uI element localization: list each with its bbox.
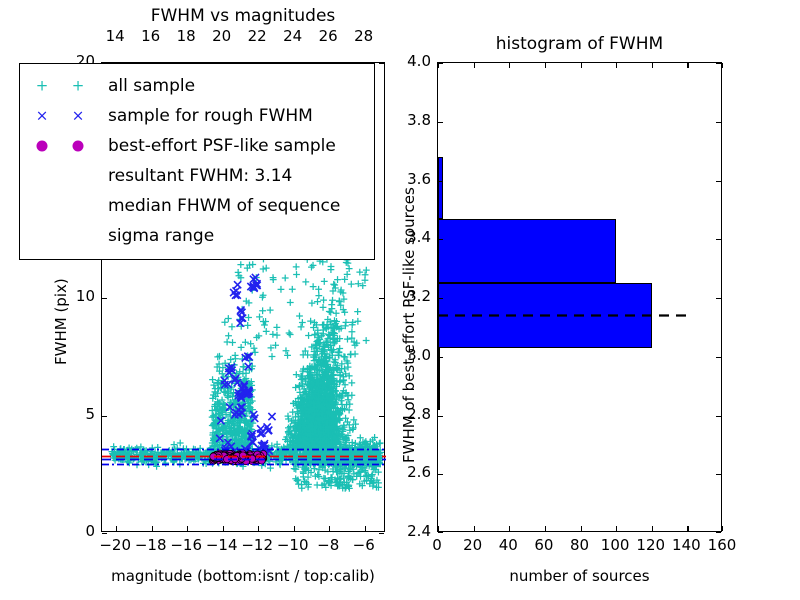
- tick-mark: [438, 526, 439, 531]
- right-x-tick-label: 120: [631, 536, 671, 554]
- right-x-tick-label: 20: [453, 536, 493, 554]
- top-axis-tick-label: 28: [342, 27, 386, 45]
- tick-mark: [379, 298, 384, 299]
- tick-mark: [652, 526, 653, 531]
- left-plot-title: FWHM vs magnitudes: [101, 6, 385, 26]
- tick-mark: [716, 122, 721, 123]
- legend-label: sigma range: [104, 226, 214, 246]
- legend-item: best-effort PSF-like sample: [20, 131, 374, 161]
- right-x-axis-label: number of sources: [437, 567, 722, 585]
- reference-line-median-FHWM-of-sequence: [102, 455, 386, 458]
- bottom-axis-tick-label: −6: [340, 536, 388, 554]
- legend-label: sample for rough FWHM: [104, 106, 313, 126]
- plus-marker-icon: +: [72, 79, 85, 94]
- tick-mark: [438, 239, 443, 240]
- left-x-axis-label: magnitude (bottom:isnt / top:calib): [101, 567, 385, 585]
- tick-mark: [716, 416, 721, 417]
- right-x-tick-label: 80: [560, 536, 600, 554]
- tick-mark: [187, 526, 188, 531]
- tick-mark: [545, 526, 546, 531]
- tick-mark: [716, 63, 721, 64]
- tick-mark: [438, 298, 443, 299]
- histogram-bars-layer: [438, 63, 721, 531]
- tick-mark: [438, 63, 443, 64]
- tick-mark: [379, 416, 384, 417]
- tick-mark: [438, 181, 443, 182]
- tick-mark: [687, 526, 688, 531]
- legend-marker: [26, 224, 104, 248]
- tick-mark: [716, 474, 721, 475]
- tick-mark: [102, 416, 107, 417]
- tick-mark: [474, 526, 475, 531]
- tick-mark: [102, 298, 107, 299]
- tick-mark: [102, 533, 107, 534]
- tick-mark: [294, 526, 295, 531]
- left-y-axis-label: FWHM (pix): [52, 278, 70, 365]
- tick-mark: [438, 532, 443, 533]
- legend-label: all sample: [104, 76, 195, 96]
- right-y-tick-label: 4.0: [391, 52, 431, 70]
- tick-mark: [616, 63, 617, 68]
- tick-mark: [545, 63, 546, 68]
- legend-label: best-effort PSF-like sample: [104, 136, 336, 156]
- tick-mark: [509, 526, 510, 531]
- left-y-tick-label: 5: [55, 405, 95, 423]
- tick-mark: [116, 526, 117, 531]
- right-x-tick-label: 100: [595, 536, 635, 554]
- right-y-axis-label: FWHM of best-effort PSF-like sources: [400, 187, 418, 463]
- legend-item: sigma range: [20, 221, 374, 251]
- legend-marker: [26, 164, 104, 188]
- right-x-tick-label: 140: [666, 536, 706, 554]
- tick-mark: [722, 63, 723, 68]
- legend-marker: [26, 134, 104, 158]
- legend-label: median FHWM of sequence: [104, 196, 340, 216]
- cross-marker-icon: ×: [36, 109, 49, 124]
- tick-mark: [716, 298, 721, 299]
- tick-mark: [687, 63, 688, 68]
- right-y-tick-label: 2.6: [391, 463, 431, 481]
- right-y-tick-label: 3.8: [391, 111, 431, 129]
- tick-mark: [581, 63, 582, 68]
- legend-item: resultant FWHM: 3.14: [20, 161, 374, 191]
- right-x-tick-label: 160: [702, 536, 742, 554]
- histogram-bar: [438, 219, 616, 284]
- circle-marker-icon: [37, 141, 48, 152]
- reference-line-sigma-range-upper: [102, 448, 386, 451]
- legend-item: median FHWM of sequence: [20, 191, 374, 221]
- legend-marker: × ×: [26, 104, 104, 128]
- tick-mark: [223, 526, 224, 531]
- tick-mark: [258, 526, 259, 531]
- cross-marker-icon: ×: [72, 109, 85, 124]
- legend-box: + + all sample × × sample for rough FWHM…: [19, 63, 375, 260]
- tick-mark: [716, 357, 721, 358]
- tick-mark: [329, 526, 330, 531]
- tick-mark: [616, 526, 617, 531]
- right-y-tick-label: 2.4: [391, 522, 431, 540]
- tick-mark: [652, 63, 653, 68]
- tick-mark: [509, 63, 510, 68]
- right-y-tick-label: 3.6: [391, 170, 431, 188]
- tick-mark: [438, 357, 443, 358]
- histogram-bar: [438, 157, 443, 219]
- legend-marker: + +: [26, 74, 104, 98]
- legend-item: + + all sample: [20, 71, 374, 101]
- right-x-tick-label: 60: [524, 536, 564, 554]
- right-plot-title: histogram of FWHM: [437, 34, 722, 54]
- figure-canvas: FWHM vs magnitudes 1416182022242628 −20−…: [0, 0, 800, 600]
- tick-mark: [438, 416, 443, 417]
- tick-mark: [722, 526, 723, 531]
- histogram-plot-axes: [437, 62, 722, 532]
- tick-mark: [716, 181, 721, 182]
- right-x-tick-label: 40: [488, 536, 528, 554]
- tick-mark: [581, 526, 582, 531]
- tick-mark: [379, 533, 384, 534]
- legend-marker: [26, 194, 104, 218]
- tick-mark: [716, 532, 721, 533]
- tick-mark: [474, 63, 475, 68]
- reference-line-sigma-range-lower: [102, 463, 386, 466]
- tick-mark: [716, 239, 721, 240]
- plus-marker-icon: +: [36, 79, 49, 94]
- legend-item: × × sample for rough FWHM: [20, 101, 374, 131]
- tick-mark: [152, 526, 153, 531]
- tick-mark: [365, 526, 366, 531]
- histogram-reference-line: [438, 314, 687, 317]
- tick-mark: [438, 122, 443, 123]
- left-y-tick-label: 0: [55, 522, 95, 540]
- legend-label: resultant FWHM: 3.14: [104, 166, 292, 186]
- reference-line-resultant-FWHM: [102, 458, 386, 461]
- tick-mark: [379, 63, 384, 64]
- tick-mark: [438, 474, 443, 475]
- circle-marker-icon: [73, 141, 84, 152]
